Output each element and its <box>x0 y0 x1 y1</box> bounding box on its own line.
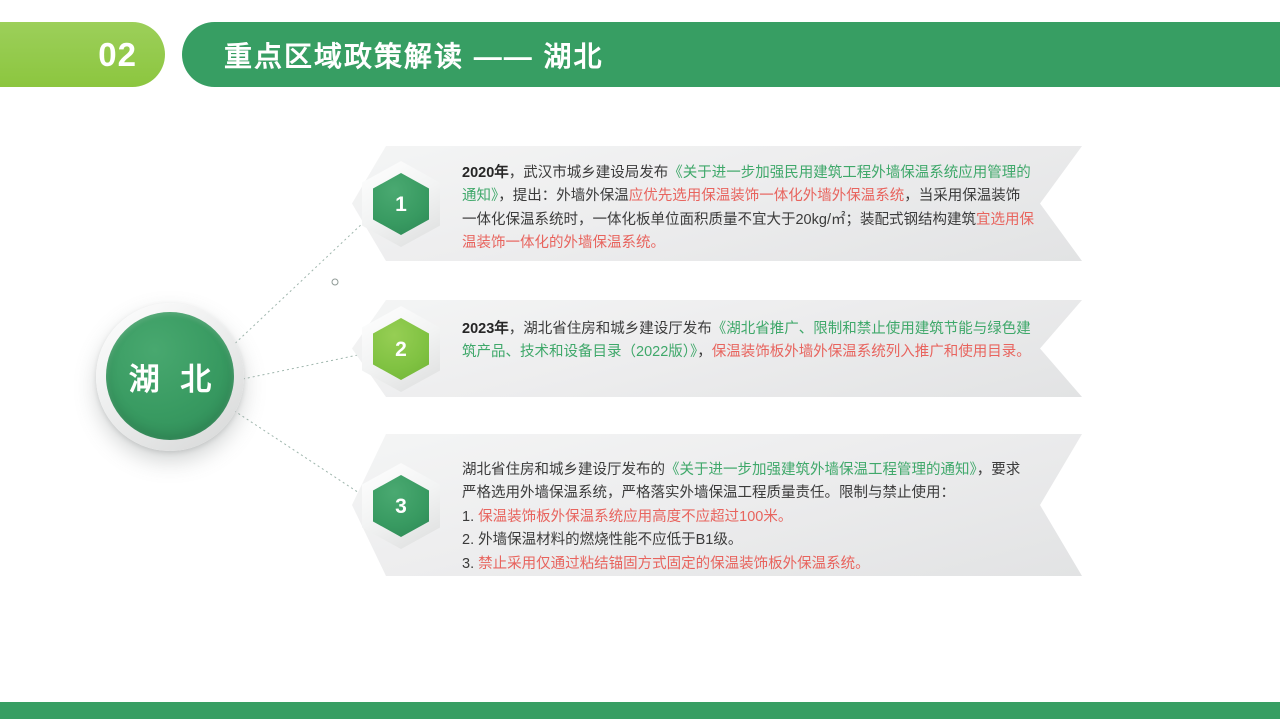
text-line: 一体化保温系统时，一体化板单位面积质量不宜大于20kg/㎡；装配式钢结构建筑宜选… <box>462 209 1062 232</box>
text-run: 筑产品、技术和设备目录（2022版）》 <box>462 344 697 360</box>
text-run: 温装饰一体化的外墙保温系统。 <box>462 235 665 251</box>
hub-disc: 湖 北 <box>106 312 234 440</box>
section-number-pill: 02 <box>0 22 165 87</box>
policy-card-text: 2020年，武汉市城乡建设局发布《关于进一步加强民用建筑工程外墙保温系统应用管理… <box>462 162 1062 256</box>
text-line: 筑产品、技术和设备目录（2022版）》，保温装饰板外墙外保温系统列入推广和使用目… <box>462 341 1062 364</box>
text-run: 2023年 <box>462 321 509 337</box>
text-run: ，要求 <box>977 462 1021 478</box>
text-run: ，湖北省住房和城乡建设厅发布 <box>509 321 712 337</box>
text-line: 2. 外墙保温材料的燃烧性能不应低于B1级。 <box>462 529 1062 552</box>
text-run: ，提出：外墙外保温 <box>498 188 629 204</box>
text-run: 《关于进一步加强建筑外墙保温工程管理的通知》 <box>665 462 977 478</box>
text-line: 严格选用外墙保温系统，严格落实外墙保温工程质量责任。限制与禁止使用： <box>462 482 1062 505</box>
page-header: 02 重点区域政策解读 —— 湖北 <box>0 22 1280 87</box>
policy-badge-3[interactable]: 3 <box>362 463 440 549</box>
policy-card-text: 湖北省住房和城乡建设厅发布的《关于进一步加强建筑外墙保温工程管理的通知》，要求严… <box>462 459 1062 576</box>
section-number: 02 <box>98 38 137 71</box>
text-run: 《湖北省推广、限制和禁止使用建筑节能与绿色建 <box>712 321 1031 337</box>
policy-card[interactable]: 2023年，湖北省住房和城乡建设厅发布《湖北省推广、限制和禁止使用建筑节能与绿色… <box>352 300 1082 397</box>
policy-badge-1[interactable]: 1 <box>362 161 440 247</box>
text-run: 一体化保温系统时，一体化板单位面积质量不宜大于20kg/㎡；装配式钢结构建筑 <box>462 212 976 228</box>
text-line: 湖北省住房和城乡建设厅发布的《关于进一步加强建筑外墙保温工程管理的通知》，要求 <box>462 459 1062 482</box>
policy-card-text: 2023年，湖北省住房和城乡建设厅发布《湖北省推广、限制和禁止使用建筑节能与绿色… <box>462 318 1062 365</box>
text-line: 通知》，提出：外墙外保温应优先选用保温装饰一体化外墙外保温系统，当采用保温装饰 <box>462 185 1062 208</box>
text-run: 《关于进一步加强民用建筑工程外墙保温系统应用管理的 <box>668 165 1031 181</box>
text-run: 通知》 <box>462 188 498 204</box>
text-run: 保温装饰板外保温系统应用高度不应超过100米。 <box>478 509 792 525</box>
badge-number: 3 <box>395 496 407 517</box>
text-line: 温装饰一体化的外墙保温系统。 <box>462 232 1062 255</box>
text-run: 严格选用外墙保温系统，严格落实外墙保温工程质量责任。限制与禁止使用： <box>462 485 955 501</box>
text-line: 2023年，湖北省住房和城乡建设厅发布《湖北省推广、限制和禁止使用建筑节能与绿色… <box>462 318 1062 341</box>
text-run: 禁止采用仅通过粘结锚固方式固定的保温装饰板外保温系统。 <box>478 556 870 572</box>
text-run: ，武汉市城乡建设局发布 <box>509 165 669 181</box>
text-run: 湖北省住房和城乡建设厅发布的 <box>462 462 665 478</box>
badge-number: 1 <box>395 194 407 215</box>
text-run: 2. 外墙保温材料的燃烧性能不应低于B1级。 <box>462 532 742 548</box>
text-run: 3. <box>462 556 478 572</box>
text-run: ，当采用保温装饰 <box>904 188 1020 204</box>
text-run: 宜选用保 <box>976 212 1034 228</box>
text-line: 3. 禁止采用仅通过粘结锚固方式固定的保温装饰板外保温系统。 <box>462 553 1062 576</box>
hub-label: 湖 北 <box>123 354 218 399</box>
region-hub[interactable]: 湖 北 <box>96 303 244 451</box>
badge-number: 2 <box>395 339 407 360</box>
connector-dot-marker <box>332 279 338 285</box>
text-run: ， <box>697 344 712 360</box>
policy-card[interactable]: 2020年，武汉市城乡建设局发布《关于进一步加强民用建筑工程外墙保温系统应用管理… <box>352 146 1082 261</box>
policy-badge-2[interactable]: 2 <box>362 306 440 392</box>
text-line: 2020年，武汉市城乡建设局发布《关于进一步加强民用建筑工程外墙保温系统应用管理… <box>462 162 1062 185</box>
section-title-bar: 重点区域政策解读 —— 湖北 <box>182 22 1280 87</box>
connector-line-1 <box>228 205 382 350</box>
policy-card[interactable]: 湖北省住房和城乡建设厅发布的《关于进一步加强建筑外墙保温工程管理的通知》，要求严… <box>352 434 1082 576</box>
page-title: 重点区域政策解读 —— 湖北 <box>224 35 604 75</box>
text-run: 应优先选用保温装饰一体化外墙外保温系统 <box>629 188 905 204</box>
text-run: 1. <box>462 509 478 525</box>
text-run: 2020年 <box>462 165 509 181</box>
text-run: 保温装饰板外墙外保温系统列入推广和使用目录。 <box>712 344 1031 360</box>
text-line: 1. 保温装饰板外保温系统应用高度不应超过100米。 <box>462 506 1062 529</box>
footer-bar <box>0 702 1280 719</box>
